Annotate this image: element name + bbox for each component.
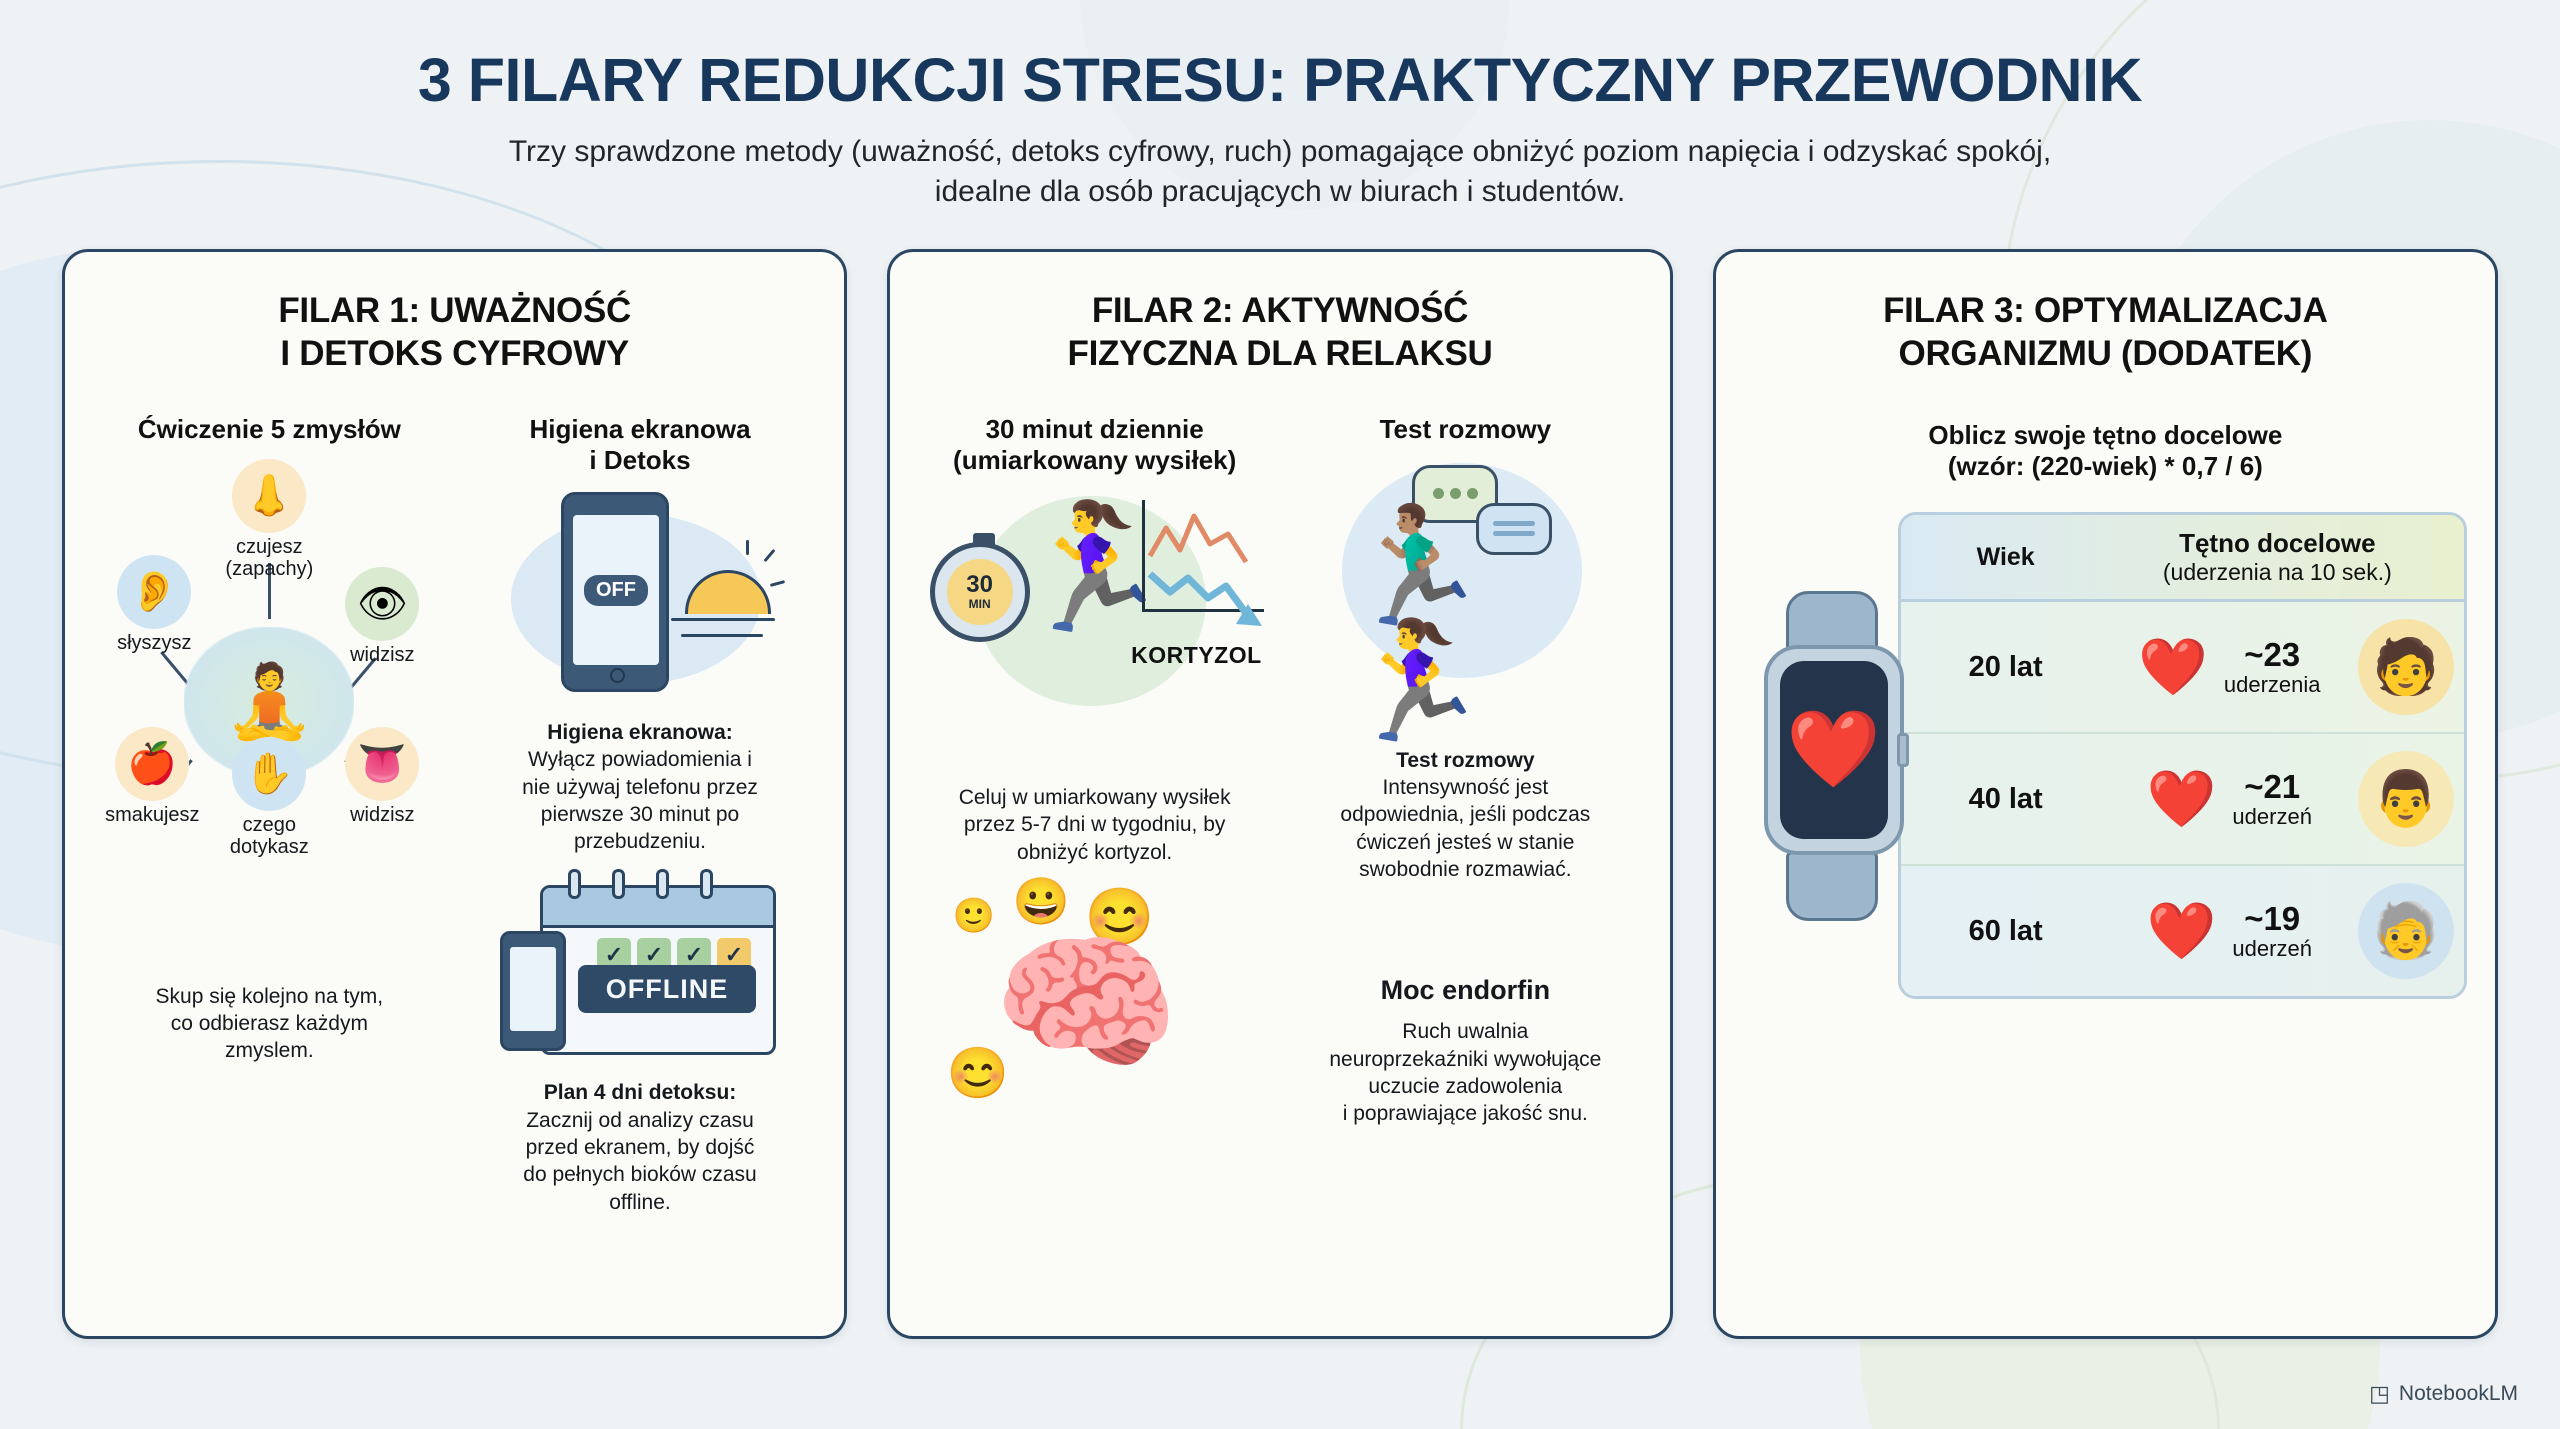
talk-test-heading: Test rozmowy <box>1380 414 1551 445</box>
endorphins-text: Moc endorfin Ruch uwalnia neuroprzekaźni… <box>1329 973 1601 1127</box>
heart-icon: ❤️ <box>2147 903 2217 959</box>
column-header-rate-line-1: Tętno docelowe <box>2101 529 2454 559</box>
cortisol-label: KORTYZOL <box>1131 642 1262 669</box>
row-unit: uderzeń <box>2232 937 2312 961</box>
eye-icon: 👁 <box>345 567 419 641</box>
sense-touch: ✋ czego dotykasz <box>209 737 329 858</box>
heart-rate-section: ❤️ Wiek Tętno docelowe (uderzenia na 10 … <box>1744 512 2467 999</box>
five-senses-diagram: 🧘 👃 czujesz (zapachy) 👂 słyszysz <box>104 459 434 939</box>
infographic-page: 3 FILARY REDUKCJI STRESU: PRAKTYCZNY PRZ… <box>0 0 2560 1429</box>
thirty-minutes-heading-2: (umiarkowany wysiłek) <box>953 445 1236 476</box>
five-senses-heading: Ćwiczenie 5 zmysłów <box>138 414 401 445</box>
row-value: ~19 <box>2232 901 2312 937</box>
row-unit: uderzeń <box>2232 805 2312 829</box>
table-header-row: Wiek Tętno docelowe (uderzenia na 10 sek… <box>1901 515 2464 602</box>
screen-hygiene-heading-1: Higiena ekranowa <box>529 414 750 445</box>
sense-smell-label-2: (zapachy) <box>225 558 313 580</box>
screen-hygiene-column: Higiena ekranowa i Detoks OFF <box>464 414 817 1216</box>
detox-plan-text: Plan 4 dni detoksu: Zacznij od analizy c… <box>523 1079 756 1215</box>
heart-icon: ❤️ <box>2147 771 2217 827</box>
runner-illustration: 30 MIN 🏃‍♀️ <box>930 490 1260 740</box>
sense-taste-label: smakujesz <box>105 804 199 826</box>
nose-icon: 👃 <box>232 459 306 533</box>
brand-label: NotebookLM <box>2399 1382 2518 1406</box>
middle-aged-man-avatar: 👨 <box>2358 751 2454 847</box>
stopwatch-icon: 30 MIN <box>930 542 1030 642</box>
sense-mouth: 👅 widzisz <box>322 727 442 826</box>
detox-plan-subtitle: Plan 4 dni detoksu: <box>544 1081 737 1104</box>
screen-hygiene-subtitle: Higiena ekranowa: <box>547 721 733 744</box>
five-senses-note: Skup się kolejno na tym, co odbierasz ka… <box>156 983 384 1065</box>
smiley-icon: 🙂 <box>953 896 995 936</box>
pillar-card-3: FILAR 3: OPTYMALIZACJA ORGANIZMU (DODATE… <box>1713 249 2498 1339</box>
sense-sight-label: widzisz <box>350 644 414 666</box>
sense-hearing: 👂 słyszysz <box>94 555 214 654</box>
sense-smell-label-1: czujesz <box>225 536 313 558</box>
apple-icon: 🍎 <box>115 727 189 801</box>
page-header: 3 FILARY REDUKCJI STRESU: PRAKTYCZNY PRZ… <box>0 0 2560 213</box>
sense-touch-label-1: czego <box>230 814 309 836</box>
card-2-title-line-2: FIZYCZNA DLA RELAKSU <box>918 333 1641 376</box>
row-value: ~23 <box>2224 637 2321 673</box>
target-heart-rate-table: Wiek Tętno docelowe (uderzenia na 10 sek… <box>1898 512 2467 999</box>
card-3-title-line-2: ORGANIZMU (DODATEK) <box>1744 333 2467 376</box>
notebooklm-logo-icon: ◳ <box>2369 1381 2390 1407</box>
card-1-title-line-2: I DETOKS CYFROWY <box>93 333 816 376</box>
row-age: 40 lat <box>1911 783 2101 816</box>
table-row: 20 lat ❤️ ~23 uderzenia 🧑 <box>1901 602 2464 734</box>
row-unit: uderzenia <box>2224 673 2321 697</box>
screen-hygiene-text: Higiena ekranowa: Wyłącz powiadomienia i… <box>522 719 758 855</box>
hand-icon: ✋ <box>232 737 306 811</box>
talk-test-subtitle: Test rozmowy <box>1396 749 1534 772</box>
card-3-title-line-1: FILAR 3: OPTYMALIZACJA <box>1744 290 2467 333</box>
brain-icon: 🧠 <box>993 928 1180 1078</box>
column-header-age: Wiek <box>1911 543 2101 572</box>
cortisol-decline-chart <box>1136 500 1266 640</box>
brain-endorphins-illustration: 🙂 😀 😊 😊 🧠 <box>935 876 1255 1126</box>
sense-touch-label-2: dotykasz <box>230 836 309 858</box>
offline-calendar-illustration: ✓ ✓ ✓ ✓ OFFLINE <box>500 869 780 1069</box>
moderate-effort-text: Celuj w umiarkowany wysiłek przez 5-7 dn… <box>959 784 1231 866</box>
ear-icon: 👂 <box>117 555 191 629</box>
two-runners-illustration: 🏃🏽‍♂️🏃‍♀️ <box>1300 459 1630 709</box>
table-row: 40 lat ❤️ ~21 uderzeń 👨 <box>1901 734 2464 866</box>
small-phone-icon <box>500 931 566 1051</box>
thirty-minutes-heading-1: 30 minut dziennie <box>953 414 1236 445</box>
heart-icon: ❤️ <box>2138 639 2208 695</box>
sense-sight: 👁 widzisz <box>322 567 442 666</box>
thirty-minutes-column: 30 minut dziennie (umiarkowany wysiłek) … <box>918 414 1271 1128</box>
endorphins-subtitle: Moc endorfin <box>1381 975 1551 1005</box>
column-header-rate-line-2: (uderzenia na 10 sek.) <box>2101 559 2454 585</box>
runners-pair-icon: 🏃🏽‍♂️🏃‍♀️ <box>1344 507 1630 739</box>
target-heart-rate-heading-1: Oblicz swoje tętno docelowe <box>1744 420 2467 451</box>
sense-taste: 🍎 smakujesz <box>92 727 212 826</box>
target-heart-rate-heading-2: (wzór: (220-wiek) * 0,7 / 6) <box>1744 451 2467 482</box>
screen-hygiene-heading-2: i Detoks <box>529 445 750 476</box>
page-subtitle-line-2: idealne dla osób pracujących w biurach i… <box>0 172 2560 213</box>
row-age: 20 lat <box>1911 651 2101 684</box>
brand-footer: ◳ NotebookLM <box>2369 1381 2518 1407</box>
card-1-title-line-1: FILAR 1: UWAŻNOŚĆ <box>93 290 816 333</box>
pillar-cards-row: FILAR 1: UWAŻNOŚĆ I DETOKS CYFROWY Ćwicz… <box>0 213 2560 1339</box>
row-age: 60 lat <box>1911 915 2101 948</box>
card-2-title-line-1: FILAR 2: AKTYWNOŚĆ <box>918 290 1641 333</box>
mouth-icon: 👅 <box>345 727 419 801</box>
sense-smell: 👃 czujesz (zapachy) <box>209 459 329 580</box>
sense-hearing-label: słyszysz <box>117 632 191 654</box>
senior-man-avatar: 🧓 <box>2358 883 2454 979</box>
page-title: 3 FILARY REDUKCJI STRESU: PRAKTYCZNY PRZ… <box>0 48 2560 113</box>
smartwatch-heart-icon: ❤️ <box>1744 591 1924 921</box>
talk-test-column: Test rozmowy 🏃🏽‍♂️🏃‍♀️ Test rozmowy <box>1289 414 1642 1128</box>
pillar-card-1: FILAR 1: UWAŻNOŚĆ I DETOKS CYFROWY Ćwicz… <box>62 249 847 1339</box>
phone-off-illustration: OFF <box>505 492 775 707</box>
offline-badge: OFFLINE <box>578 965 756 1013</box>
talk-test-text: Test rozmowy Intensywność jest odpowiedn… <box>1340 747 1590 883</box>
phone-icon: OFF <box>561 492 669 692</box>
five-senses-column: Ćwiczenie 5 zmysłów 🧘 👃 czujesz (zapachy… <box>93 414 446 1216</box>
row-value: ~21 <box>2232 769 2312 805</box>
sense-mouth-label: widzisz <box>350 804 414 826</box>
young-man-avatar: 🧑 <box>2358 619 2454 715</box>
table-row: 60 lat ❤️ ~19 uderzeń 🧓 <box>1901 866 2464 996</box>
page-subtitle-line-1: Trzy sprawdzone metody (uważność, detoks… <box>0 132 2560 173</box>
off-badge: OFF <box>584 575 648 606</box>
pillar-card-2: FILAR 2: AKTYWNOŚĆ FIZYCZNA DLA RELAKSU … <box>887 249 1672 1339</box>
